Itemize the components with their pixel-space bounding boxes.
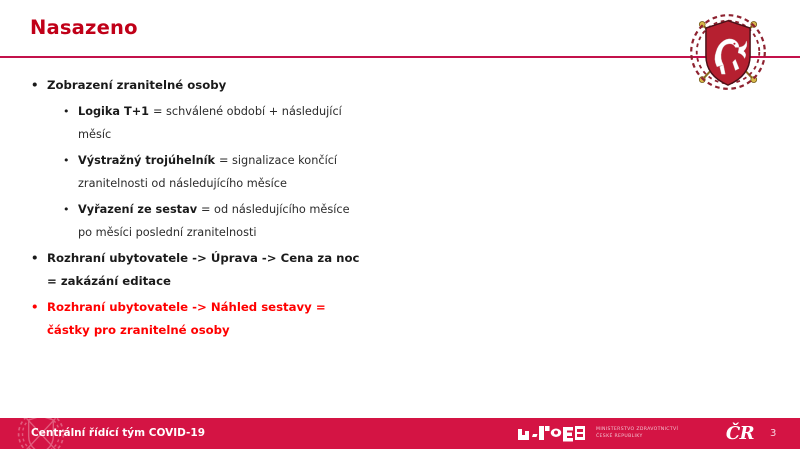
bullet-text-continuation: měsíc: [78, 123, 470, 147]
bullet-dot-icon: •: [63, 149, 70, 173]
bullet-text-regular: = signalizace končící: [219, 154, 337, 167]
bullet-item: • Zobrazení zranitelné osoby: [0, 74, 470, 98]
bullet-text-continuation: po měsíci poslední zranitelnosti: [78, 221, 470, 245]
bullet-dot-icon: •: [63, 100, 70, 124]
bullet-dot-icon: •: [63, 198, 70, 222]
bullet-item: • Vyřazení ze sestav = od následujícího …: [0, 198, 470, 245]
bullet-item-highlighted: • Rozhraní ubytovatele -> Náhled sestavy…: [0, 296, 470, 343]
ministry-name-line1: MINISTERSTVO ZDRAVOTNICTVÍ: [596, 426, 678, 433]
bullet-text-bold: Rozhraní ubytovatele -> Náhled sestavy =: [47, 296, 470, 320]
footer-bar: Centrální řídící tým COVID-19 MINISTERST…: [0, 418, 800, 449]
bullet-text-continuation: zranitelnosti od následujícího měsíce: [78, 172, 470, 196]
cr-logo: ČR: [718, 421, 762, 446]
bullet-dot-icon: •: [31, 247, 38, 271]
ministry-name: MINISTERSTVO ZDRAVOTNICTVÍ ČESKÉ REPUBLI…: [596, 426, 678, 440]
page-title: Nasazeno: [30, 17, 138, 38]
czech-coat-of-arms-icon: [682, 6, 774, 98]
bullet-text-bold: Zobrazení zranitelné osoby: [47, 78, 226, 92]
bullet-text-bold: Vyřazení ze sestav: [78, 203, 201, 216]
ministry-name-line2: ČESKÉ REPUBLIKY: [596, 433, 678, 440]
bullet-item: • Logika T+1 = schválené období + násled…: [0, 100, 470, 147]
bullet-text-continuation: = zakázání editace: [47, 270, 470, 294]
bullet-item: • Rozhraní ubytovatele -> Úprava -> Cena…: [0, 247, 470, 294]
bullet-item: • Výstražný trojúhelník = signalizace ko…: [0, 149, 470, 196]
bullet-text-regular: = od následujícího měsíce: [201, 203, 350, 216]
footer-title: Centrální řídící tým COVID-19: [31, 418, 205, 449]
bullet-dot-icon: •: [31, 296, 38, 320]
bullet-text-regular: = schválené období + následující: [153, 105, 342, 118]
bullet-text-continuation: částky pro zranitelné osoby: [47, 319, 470, 343]
title-divider: [0, 56, 800, 58]
bullet-dot-icon: •: [31, 74, 38, 98]
bullet-text-bold: Výstražný trojúhelník: [78, 154, 219, 167]
bullet-text-bold: Logika T+1: [78, 105, 153, 118]
slide-body: • Zobrazení zranitelné osoby • Logika T+…: [0, 72, 470, 343]
bullet-text-bold: Rozhraní ubytovatele -> Úprava -> Cena z…: [47, 247, 470, 271]
page-number: 3: [770, 418, 792, 449]
ministry-of-health-logo-icon: [517, 424, 587, 443]
